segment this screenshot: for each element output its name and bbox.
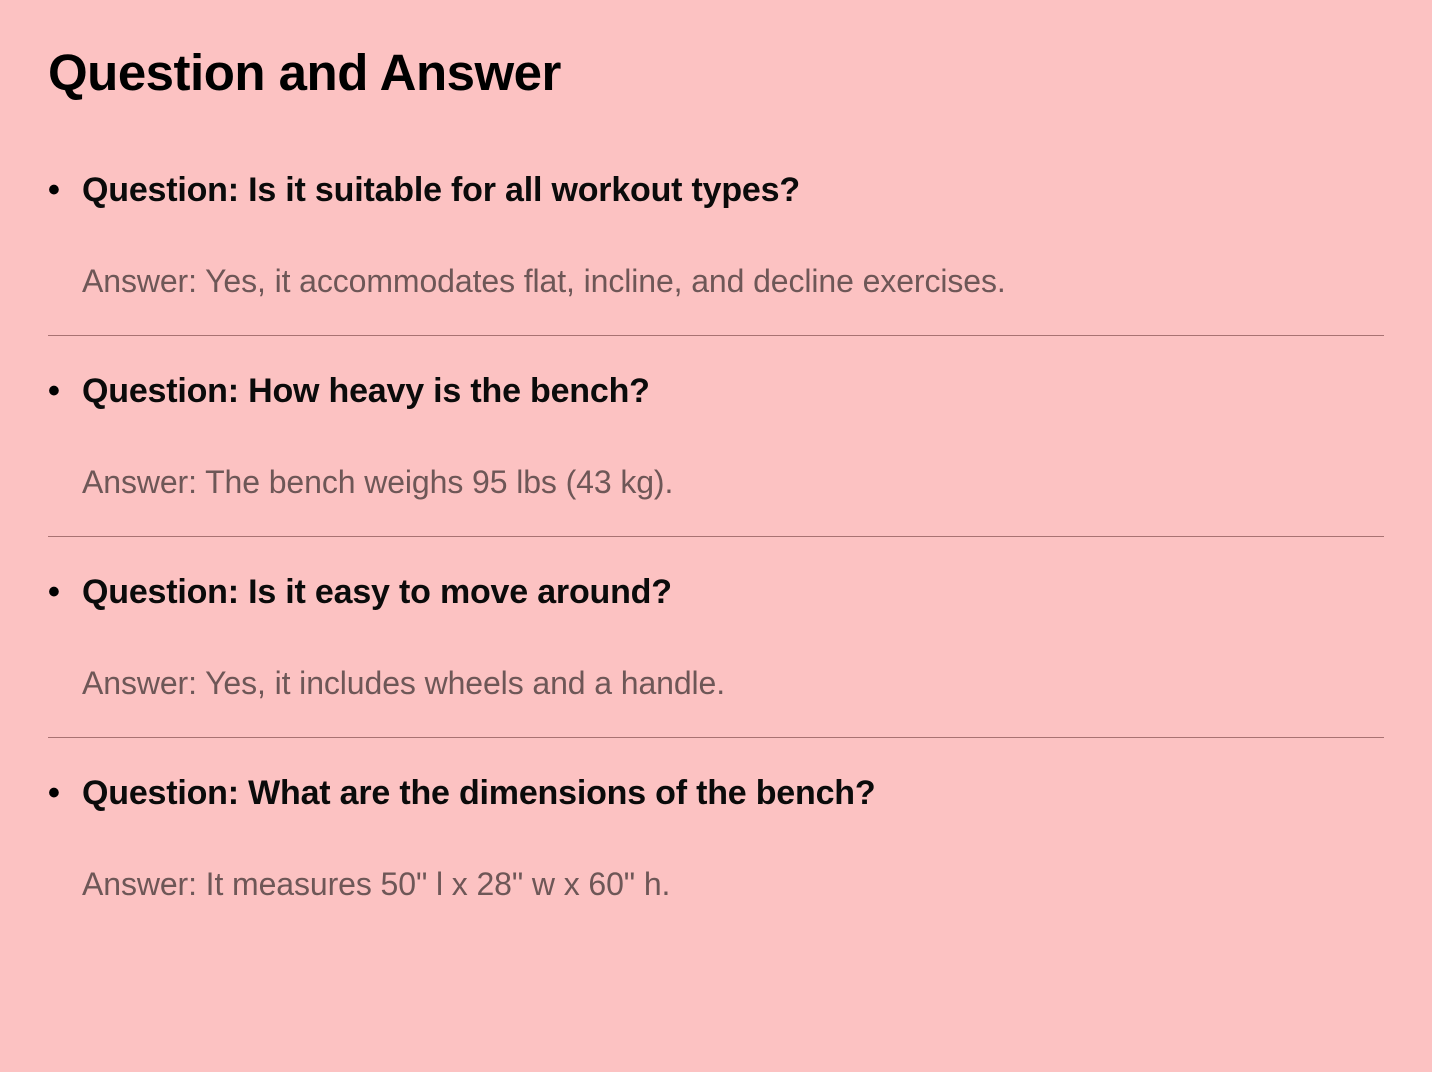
qa-page: Question and Answer • Question: Is it su… — [0, 0, 1432, 1072]
block-spacer — [0, 537, 1432, 570]
qa-block-3: • Question: Is it easy to move around? A… — [0, 570, 1432, 771]
bullet-icon: • — [48, 168, 82, 212]
block-spacer — [0, 336, 1432, 369]
question-row: • Question: What are the dimensions of t… — [0, 771, 1432, 815]
answer-text-3: Answer: Yes, it includes wheels and a ha… — [0, 662, 1432, 704]
answer-text-4: Answer: It measures 50" l x 28" w x 60" … — [0, 863, 1432, 905]
question-row: • Question: Is it suitable for all worko… — [0, 168, 1432, 212]
answer-text-2: Answer: The bench weighs 95 lbs (43 kg). — [0, 461, 1432, 503]
question-row: • Question: Is it easy to move around? — [0, 570, 1432, 614]
bullet-icon: • — [48, 771, 82, 815]
answer-text-1: Answer: Yes, it accommodates flat, incli… — [0, 260, 1432, 302]
page-title: Question and Answer — [48, 44, 561, 103]
question-text-2: Question: How heavy is the bench? — [82, 369, 1392, 413]
question-text-3: Question: Is it easy to move around? — [82, 570, 1392, 614]
question-text-1: Question: Is it suitable for all workout… — [82, 168, 1392, 212]
qa-list: • Question: Is it suitable for all worko… — [0, 168, 1432, 905]
block-spacer — [0, 738, 1432, 771]
qa-block-1: • Question: Is it suitable for all worko… — [0, 168, 1432, 369]
bullet-icon: • — [48, 570, 82, 614]
qa-block-2: • Question: How heavy is the bench? Answ… — [0, 369, 1432, 570]
question-row: • Question: How heavy is the bench? — [0, 369, 1432, 413]
question-text-4: Question: What are the dimensions of the… — [82, 771, 1392, 815]
qa-block-4: • Question: What are the dimensions of t… — [0, 771, 1432, 905]
bullet-icon: • — [48, 369, 82, 413]
